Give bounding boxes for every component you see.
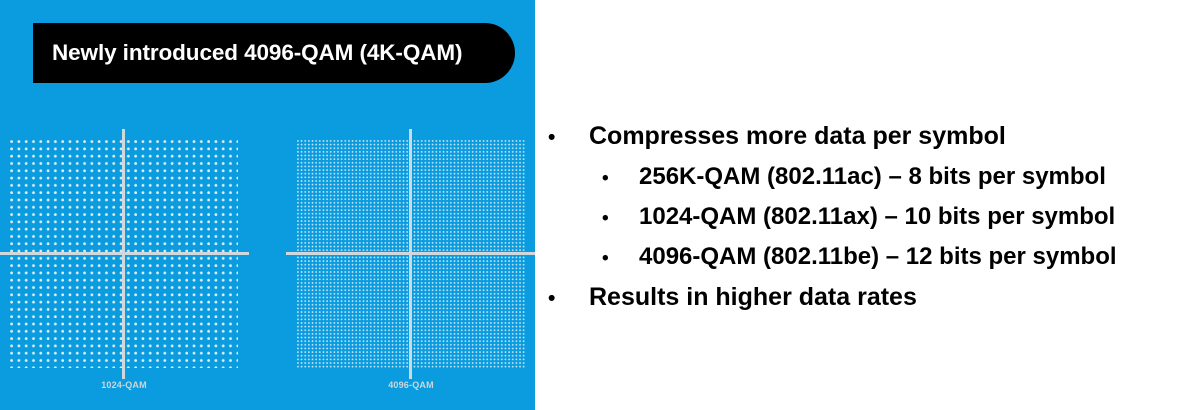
bullet-label: 1024-QAM (802.11ax) – 10 bits per symbol [639,203,1115,231]
constellation-caption-4096qam: 4096-QAM [297,380,525,390]
bullet-dot-icon: • [602,248,639,270]
constellation-diagram-1024qam: 1024-QAM [10,140,238,368]
inphase-axis-line [0,252,249,255]
bullet-label: 4096-QAM (802.11be) – 12 bits per symbol [639,243,1117,271]
inphase-axis-line [286,252,535,255]
constellation-plot-area [10,140,238,368]
constellation-plot-area [297,140,525,368]
bullet-dot-icon: • [548,287,589,311]
constellation-diagram-4096qam: 4096-QAM [297,140,525,368]
bullet-item: • Compresses more data per symbol [548,122,1006,151]
bullet-item: • 1024-QAM (802.11ax) – 10 bits per symb… [602,203,1115,231]
bullet-label: Results in higher data rates [589,283,917,312]
slide-canvas: Newly introduced 4096-QAM (4K-QAM) 1024-… [0,0,1200,410]
constellation-caption-1024qam: 1024-QAM [10,380,238,390]
bullet-label: Compresses more data per symbol [589,122,1006,151]
blue-graphic-panel: Newly introduced 4096-QAM (4K-QAM) 1024-… [0,0,535,410]
bullet-item: • 256K-QAM (802.11ac) – 8 bits per symbo… [602,163,1106,191]
page-title: Newly introduced 4096-QAM (4K-QAM) [52,42,462,65]
bullet-item: • 4096-QAM (802.11be) – 12 bits per symb… [602,243,1117,271]
bullet-dot-icon: • [602,168,639,190]
bullet-item: • Results in higher data rates [548,283,917,312]
title-banner: Newly introduced 4096-QAM (4K-QAM) [33,23,515,83]
bullet-list: • Compresses more data per symbol • 256K… [540,0,1200,410]
bullet-label: 256K-QAM (802.11ac) – 8 bits per symbol [639,163,1106,191]
bullet-dot-icon: • [548,126,589,150]
bullet-dot-icon: • [602,208,639,230]
